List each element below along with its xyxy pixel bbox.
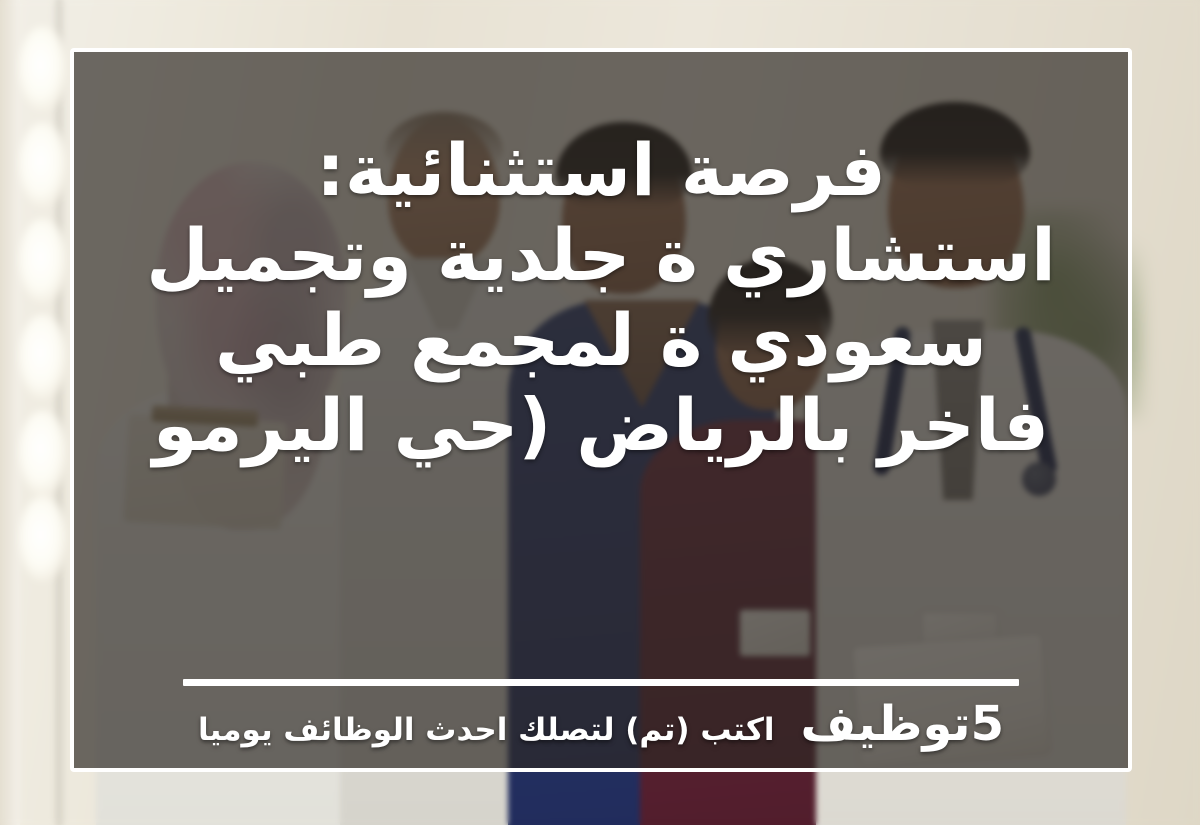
light-bulb-icon <box>19 26 67 112</box>
overlay-panel: فرصة استثنائية: استشاري ة جلدية وتجميل س… <box>70 48 1132 772</box>
footer-tagline: اكتب (تم) لتصلك احدث الوظائف يوميا <box>198 715 774 746</box>
vanity-light-strip <box>14 26 72 586</box>
light-bulb-icon <box>19 218 67 304</box>
footer-row: 5توظيف اكتب (تم) لتصلك احدث الوظائف يومي… <box>74 700 1128 754</box>
footer-zone: 5توظيف اكتب (تم) لتصلك احدث الوظائف يومي… <box>74 679 1128 754</box>
brand-logo-text: 5توظيف <box>800 700 1004 748</box>
horizontal-divider <box>183 679 1019 686</box>
advert-banner: فرصة استثنائية: استشاري ة جلدية وتجميل س… <box>0 0 1200 825</box>
light-bulb-icon <box>19 410 67 496</box>
light-bulb-icon <box>19 496 67 582</box>
headline-text: فرصة استثنائية: استشاري ة جلدية وتجميل س… <box>116 80 1086 468</box>
overlay-content: فرصة استثنائية: استشاري ة جلدية وتجميل س… <box>74 52 1128 768</box>
light-bulb-icon <box>19 314 67 400</box>
light-bulb-icon <box>19 122 67 208</box>
